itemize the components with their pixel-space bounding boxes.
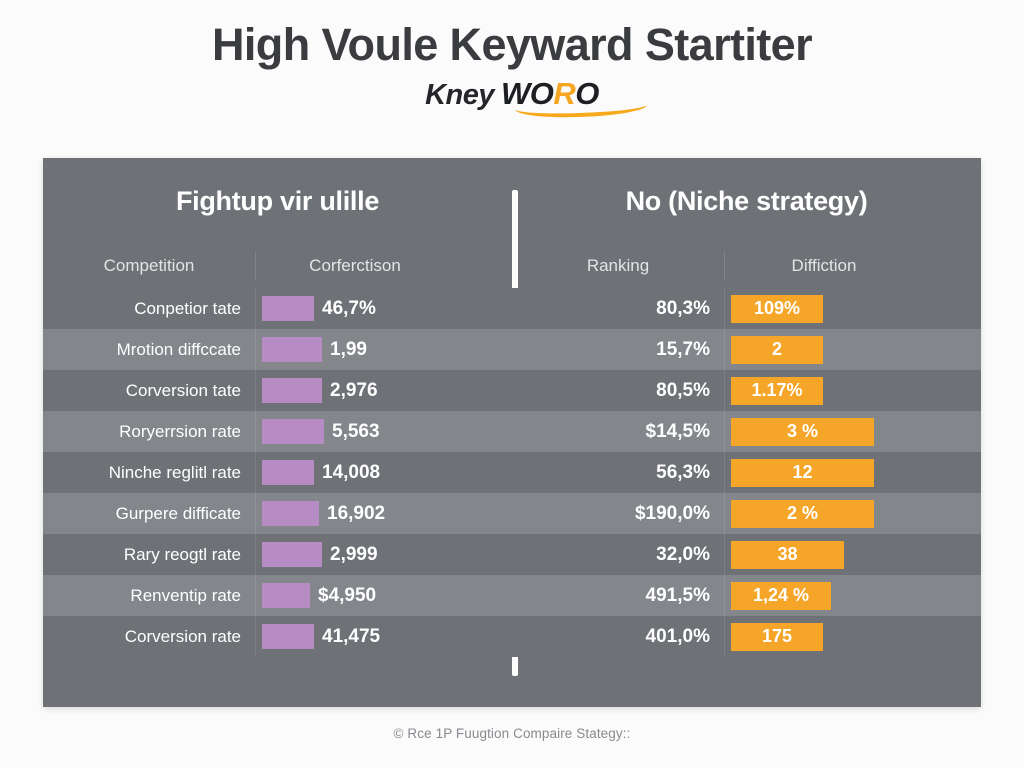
row-value-text: 16,902 xyxy=(327,503,385,525)
table-row[interactable]: $190,0%2 % xyxy=(512,493,981,534)
purple-bar xyxy=(262,296,314,321)
row-value-text: 14,008 xyxy=(322,462,380,484)
orange-bar: 2 % xyxy=(731,500,874,528)
ranking-value: 80,3% xyxy=(512,298,724,320)
row-label: Rary reogtl rate xyxy=(43,545,255,565)
right-col-header-value: Diffiction xyxy=(724,256,924,276)
right-table: Ranking Diffiction 80,3%109%15,7%280,5%1… xyxy=(512,244,981,657)
table-row[interactable]: 15,7%2 xyxy=(512,329,981,370)
row-label: Conpetior tate xyxy=(43,299,255,319)
purple-bar xyxy=(262,542,322,567)
right-column-headers: Ranking Diffiction xyxy=(512,244,981,288)
row-bar-cell: 1.17% xyxy=(724,370,924,411)
orange-bar: 175 xyxy=(731,623,823,651)
table-row[interactable]: 56,3%12 xyxy=(512,452,981,493)
orange-bar: 38 xyxy=(731,541,844,569)
row-bar-cell: 109% xyxy=(724,288,924,329)
row-bar-cell: 2 % xyxy=(724,493,924,534)
row-value-text: 41,475 xyxy=(322,626,380,648)
row-label: Roryerrsion rate xyxy=(43,422,255,442)
row-value-cell: 46,7% xyxy=(255,288,455,329)
right-rows-container: 80,3%109%15,7%280,5%1.17%$14,5%3 %56,3%1… xyxy=(512,288,981,657)
ranking-value: 32,0% xyxy=(512,544,724,566)
brand-logo: KneyWORO xyxy=(425,76,599,112)
ranking-value: $14,5% xyxy=(512,421,724,443)
footer-note: © Rce 1P Fuugtion Compaire Stategy:: xyxy=(0,726,1024,741)
comparison-panel: Fightup vir ulille No (Niche strategy) C… xyxy=(43,158,981,707)
row-bar-cell: 38 xyxy=(724,534,924,575)
orange-bar: 3 % xyxy=(731,418,874,446)
table-row[interactable]: 80,3%109% xyxy=(512,288,981,329)
brand-accent-letter: R xyxy=(553,76,575,111)
purple-bar xyxy=(262,624,314,649)
purple-bar xyxy=(262,583,310,608)
table-row[interactable]: 401,0%175 xyxy=(512,616,981,657)
brand-word-1: Kney xyxy=(425,79,494,111)
row-label: Gurpere difficate xyxy=(43,504,255,524)
table-row[interactable]: 491,5%1,24 % xyxy=(512,575,981,616)
row-value-text: 5,563 xyxy=(332,421,380,443)
left-panel-heading: Fightup vir ulille xyxy=(43,186,512,217)
page-header: High Voule Keyward Startiter KneyWORO xyxy=(0,0,1024,112)
row-label: Corversion tate xyxy=(43,381,255,401)
row-value-cell: 1,99 xyxy=(255,329,455,370)
row-value-text: 1,99 xyxy=(330,339,367,361)
right-col-header-label: Ranking xyxy=(512,256,724,276)
table-row[interactable]: $14,5%3 % xyxy=(512,411,981,452)
table-row[interactable]: Roryerrsion rate5,563 xyxy=(43,411,512,452)
row-bar-cell: 3 % xyxy=(724,411,924,452)
row-bar-cell: 12 xyxy=(724,452,924,493)
row-value-cell: 41,475 xyxy=(255,616,455,657)
row-value-text: $4,950 xyxy=(318,585,376,607)
row-value-cell: $4,950 xyxy=(255,575,455,616)
left-col-header-label: Competition xyxy=(43,256,255,276)
ranking-value: $190,0% xyxy=(512,503,724,525)
table-row[interactable]: Conpetior tate46,7% xyxy=(43,288,512,329)
left-rows-container: Conpetior tate46,7%Mrotion diffccate1,99… xyxy=(43,288,512,657)
ranking-value: 80,5% xyxy=(512,380,724,402)
brand-word-2-post: O xyxy=(575,76,599,111)
purple-bar xyxy=(262,337,322,362)
ranking-value: 15,7% xyxy=(512,339,724,361)
purple-bar xyxy=(262,378,322,403)
purple-bar xyxy=(262,460,314,485)
ranking-value: 491,5% xyxy=(512,585,724,607)
row-label: Mrotion diffccate xyxy=(43,340,255,360)
row-value-cell: 16,902 xyxy=(255,493,455,534)
row-bar-cell: 175 xyxy=(724,616,924,657)
orange-bar: 2 xyxy=(731,336,823,364)
row-value-cell: 2,999 xyxy=(255,534,455,575)
row-bar-cell: 2 xyxy=(724,329,924,370)
row-value-cell: 14,008 xyxy=(255,452,455,493)
orange-bar: 12 xyxy=(731,459,874,487)
table-row[interactable]: Renventip rate$4,950 xyxy=(43,575,512,616)
left-column-headers: Competition Corferctison xyxy=(43,244,512,288)
row-label: Ninche reglitl rate xyxy=(43,463,255,483)
row-bar-cell: 1,24 % xyxy=(724,575,924,616)
row-value-cell: 2,976 xyxy=(255,370,455,411)
right-panel-heading: No (Niche strategy) xyxy=(512,186,981,217)
orange-bar: 1,24 % xyxy=(731,582,831,610)
brand-word-2-pre: WO xyxy=(501,76,553,111)
table-row[interactable]: Mrotion diffccate1,99 xyxy=(43,329,512,370)
row-value-text: 46,7% xyxy=(322,298,376,320)
left-table: Competition Corferctison Conpetior tate4… xyxy=(43,244,512,657)
ranking-value: 401,0% xyxy=(512,626,724,648)
table-row[interactable]: Corversion tate2,976 xyxy=(43,370,512,411)
ranking-value: 56,3% xyxy=(512,462,724,484)
table-columns: Competition Corferctison Conpetior tate4… xyxy=(43,244,981,657)
purple-bar xyxy=(262,501,319,526)
purple-bar xyxy=(262,419,324,444)
table-row[interactable]: Gurpere difficate16,902 xyxy=(43,493,512,534)
row-label: Renventip rate xyxy=(43,586,255,606)
row-value-text: 2,999 xyxy=(330,544,378,566)
row-value-text: 2,976 xyxy=(330,380,378,402)
page-title: High Voule Keyward Startiter xyxy=(0,20,1024,70)
row-label: Corversion rate xyxy=(43,627,255,647)
table-row[interactable]: Rary reogtl rate2,999 xyxy=(43,534,512,575)
left-col-header-value: Corferctison xyxy=(255,256,455,276)
orange-bar: 109% xyxy=(731,295,823,323)
table-row[interactable]: 80,5%1.17% xyxy=(512,370,981,411)
table-row[interactable]: Corversion rate41,475 xyxy=(43,616,512,657)
table-row[interactable]: Ninche reglitl rate14,008 xyxy=(43,452,512,493)
table-row[interactable]: 32,0%38 xyxy=(512,534,981,575)
row-value-cell: 5,563 xyxy=(255,411,455,452)
orange-bar: 1.17% xyxy=(731,377,823,405)
